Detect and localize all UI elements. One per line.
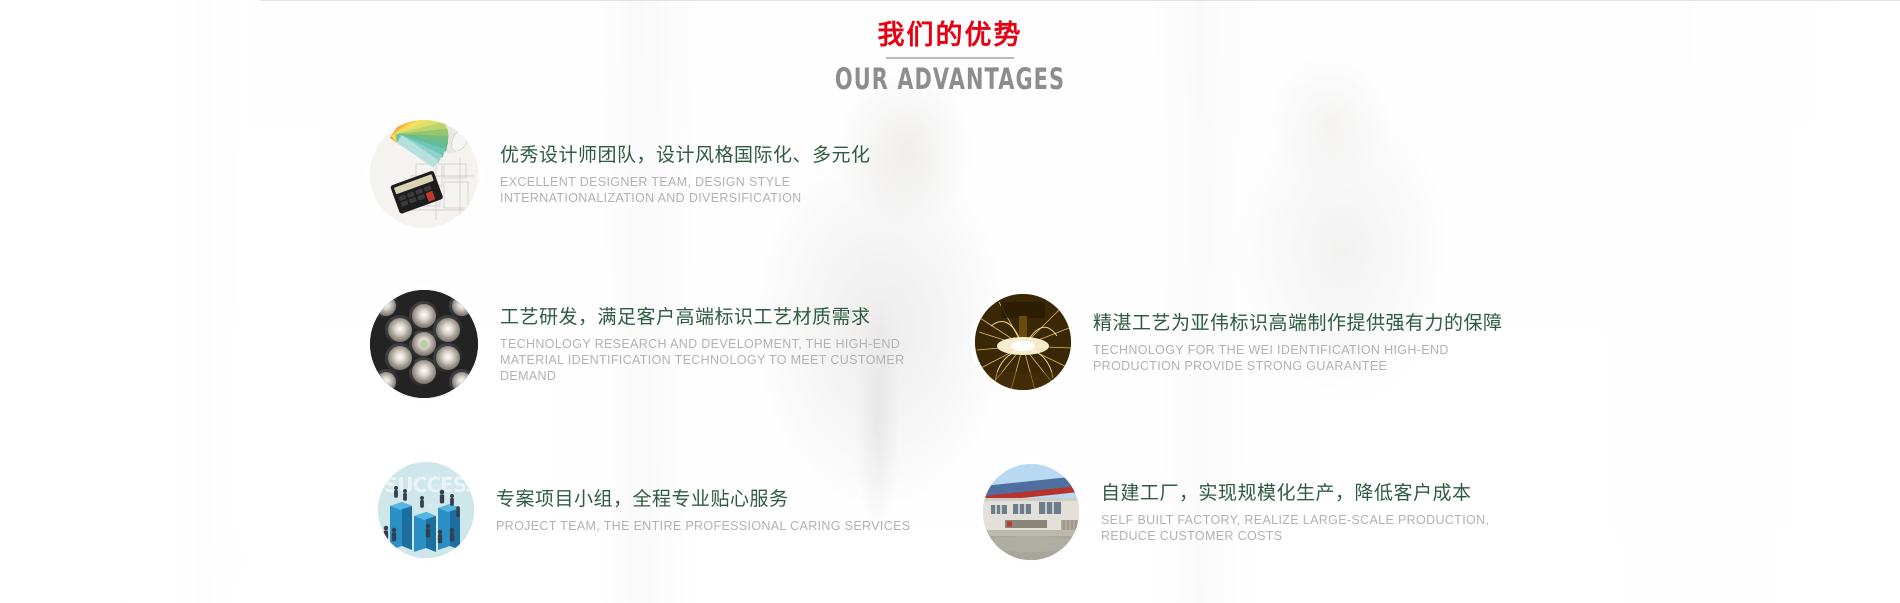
feature-subtitle: TECHNOLOGY RESEARCH AND DEVELOPMENT, THE… xyxy=(500,336,930,384)
feature-item-craftsmanship[interactable]: 精湛工艺为亚伟标识高端制作提供强有力的保障 TECHNOLOGY FOR THE… xyxy=(975,294,1523,390)
feature-title: 专案项目小组，全程专业贴心服务 xyxy=(496,487,910,513)
feature-copy: 专案项目小组，全程专业贴心服务 PROJECT TEAM, THE ENTIRE… xyxy=(496,487,910,534)
feature-copy: 工艺研发，满足客户高端标识工艺材质需求 TECHNOLOGY RESEARCH … xyxy=(500,305,930,384)
svg-text:corporate: corporate xyxy=(430,483,459,490)
feature-title: 优秀设计师团队，设计风格国际化、多元化 xyxy=(500,143,930,169)
success-bar-chart-icon: SUCCESS word busine corporate finance gr… xyxy=(378,462,474,558)
feature-copy: 精湛工艺为亚伟标识高端制作提供强有力的保障 TECHNOLOGY FOR THE… xyxy=(1093,311,1523,374)
feature-copy: 优秀设计师团队，设计风格国际化、多元化 EXCELLENT DESIGNER T… xyxy=(500,143,930,206)
feature-subtitle: SELF BUILT FACTORY, REALIZE LARGE-SCALE … xyxy=(1101,512,1531,544)
section-title-en: OUR ADVANTAGES xyxy=(266,63,1634,95)
laser-cutting-sparks-icon xyxy=(975,294,1071,390)
feature-item-technology-rd[interactable]: 工艺研发，满足客户高端标识工艺材质需求 TECHNOLOGY RESEARCH … xyxy=(370,290,930,398)
feature-subtitle: TECHNOLOGY FOR THE WEI IDENTIFICATION HI… xyxy=(1093,342,1523,374)
feature-subtitle: PROJECT TEAM, THE ENTIRE PROFESSIONAL CA… xyxy=(496,518,910,534)
top-divider-line xyxy=(260,0,1900,1)
feature-subtitle: EXCELLENT DESIGNER TEAM, DESIGN STYLE IN… xyxy=(500,174,930,206)
feature-item-own-factory[interactable]: 自建工厂，实现规模化生产，降低客户成本 SELF BUILT FACTORY, … xyxy=(983,464,1531,560)
svg-text:word busine: word busine xyxy=(422,473,459,480)
section-title-cn: 我们的优势 xyxy=(0,18,1900,52)
color-swatch-blueprint-icon xyxy=(370,120,478,228)
metal-tubes-icon xyxy=(370,290,478,398)
feature-title: 精湛工艺为亚伟标识高端制作提供强有力的保障 xyxy=(1093,311,1523,337)
section-header: 我们的优势 OUR ADVANTAGES xyxy=(0,18,1900,95)
header-divider xyxy=(886,57,1014,59)
feature-item-designer-team[interactable]: 优秀设计师团队，设计风格国际化、多元化 EXCELLENT DESIGNER T… xyxy=(370,120,930,228)
advantages-section: 我们的优势 OUR ADVANTAGES xyxy=(0,0,1900,603)
feature-copy: 自建工厂，实现规模化生产，降低客户成本 SELF BUILT FACTORY, … xyxy=(1101,481,1531,544)
feature-item-project-team[interactable]: SUCCESS word busine corporate finance gr… xyxy=(378,462,910,558)
feature-title: 自建工厂，实现规模化生产，降低客户成本 xyxy=(1101,481,1531,507)
factory-building-icon xyxy=(983,464,1079,560)
feature-title: 工艺研发，满足客户高端标识工艺材质需求 xyxy=(500,305,930,331)
